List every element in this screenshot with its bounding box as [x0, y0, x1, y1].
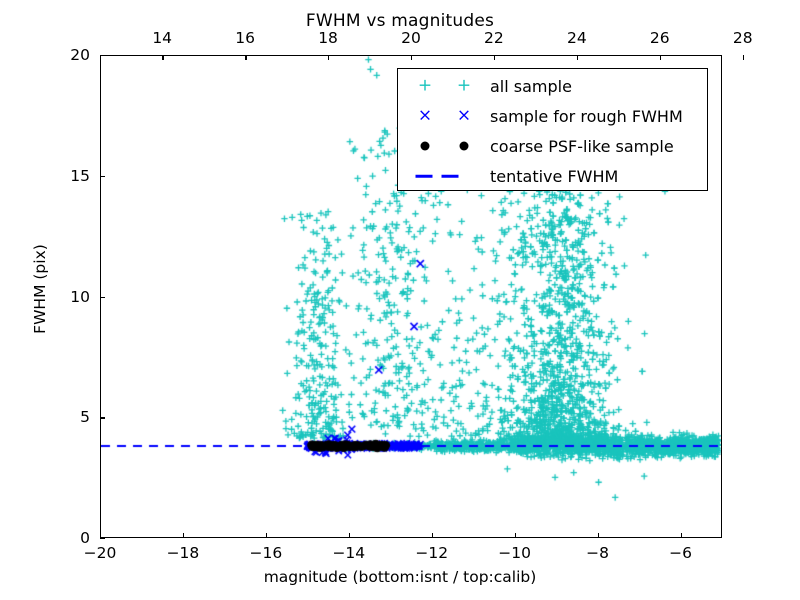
tick-mark-top	[494, 55, 495, 60]
legend-label-psf-like: coarse PSF-like sample	[490, 137, 674, 156]
tick-mark-top	[660, 55, 661, 60]
tick-label-bottom: −10	[498, 544, 531, 562]
tick-label-bottom: −18	[167, 544, 200, 562]
tick-mark-top	[577, 55, 578, 60]
legend-entry-all-sample: + + all sample	[398, 71, 707, 101]
tick-mark-top	[328, 55, 329, 60]
tick-mark-bottom	[681, 533, 682, 538]
tick-mark-left	[100, 538, 105, 539]
legend-entry-psf-like: coarse PSF-like sample	[398, 131, 707, 161]
legend-label-rough-fwhm: sample for rough FWHM	[490, 107, 683, 126]
tick-label-top: 18	[318, 29, 338, 47]
tick-mark-bottom	[432, 533, 433, 538]
tick-label-left: 20	[38, 46, 90, 64]
tick-label-left: 0	[38, 529, 90, 547]
tick-mark-bottom	[515, 533, 516, 538]
chart-title: FWHM vs magnitudes	[0, 11, 800, 31]
x-axis-label: magnitude (bottom:isnt / top:calib)	[0, 568, 800, 586]
chart-legend: + + all sample × × sample for rough FWHM…	[397, 68, 708, 191]
legend-label-tentative-fwhm: tentative FWHM	[490, 167, 618, 186]
tick-mark-top	[411, 55, 412, 60]
tick-mark-bottom	[349, 533, 350, 538]
tick-label-top: 28	[733, 29, 753, 47]
legend-marker-dashed-line-icon	[398, 161, 490, 191]
tick-mark-left	[100, 55, 105, 56]
legend-marker-cross-icon: × ×	[398, 101, 490, 131]
tick-label-top: 20	[401, 29, 421, 47]
y-axis-label: FWHM (pix)	[31, 89, 49, 489]
tick-label-bottom: −14	[332, 544, 365, 562]
tick-label-top: 14	[152, 29, 172, 47]
tick-mark-left	[100, 176, 105, 177]
legend-marker-plus-icon: + +	[398, 71, 490, 101]
tick-mark-bottom	[598, 533, 599, 538]
legend-entry-rough-fwhm: × × sample for rough FWHM	[398, 101, 707, 131]
tick-mark-bottom	[183, 533, 184, 538]
tick-label-bottom: −12	[415, 544, 448, 562]
tick-mark-left	[100, 297, 105, 298]
tick-label-top: 16	[235, 29, 255, 47]
tick-label-top: 24	[567, 29, 587, 47]
tick-mark-left	[100, 417, 105, 418]
tick-label-bottom: −16	[250, 544, 283, 562]
tick-label-top: 26	[650, 29, 670, 47]
tick-mark-top	[743, 55, 744, 60]
legend-entry-tentative-fwhm: tentative FWHM	[398, 161, 707, 191]
legend-label-all-sample: all sample	[490, 77, 572, 96]
tick-label-bottom: −6	[669, 544, 692, 562]
tick-label-bottom: −8	[586, 544, 609, 562]
tick-mark-top	[245, 55, 246, 60]
tick-label-top: 22	[484, 29, 504, 47]
legend-marker-dot-icon	[398, 131, 490, 161]
figure-canvas: FWHM vs magnitudes 1416182022242628 −20−…	[0, 0, 800, 600]
tick-mark-top	[162, 55, 163, 60]
tick-mark-bottom	[266, 533, 267, 538]
